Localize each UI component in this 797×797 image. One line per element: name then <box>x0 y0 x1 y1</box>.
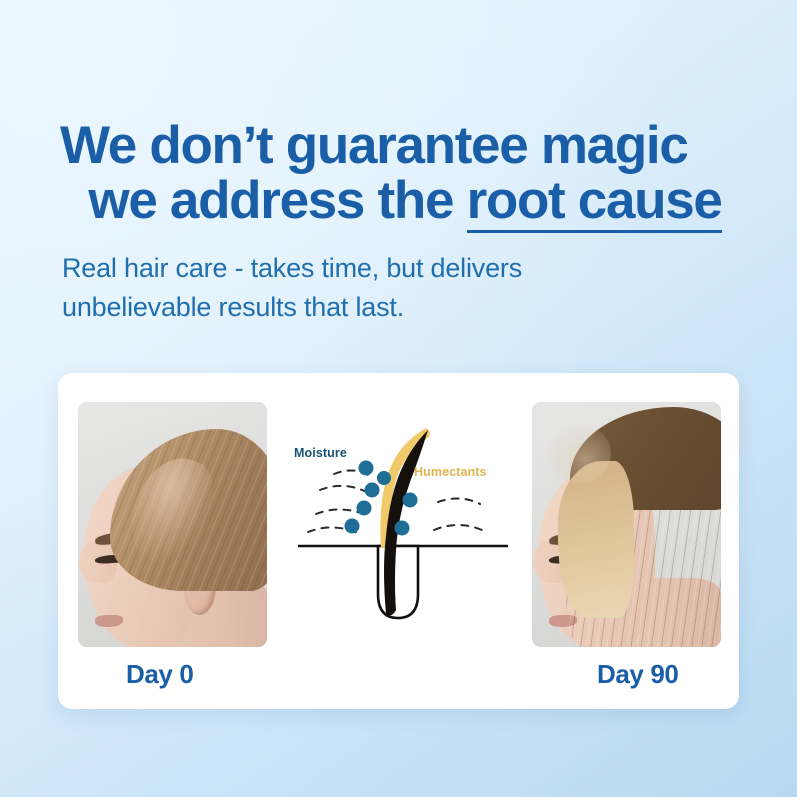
headline-line-2-prefix: we address the <box>88 171 466 230</box>
after-caption: Day 90 <box>597 659 678 690</box>
after-portrait-illustration <box>532 402 721 647</box>
hair-follicle-diagram: Moisture Humectants <box>286 418 520 634</box>
hair-flyaway-wisps <box>547 424 611 483</box>
subtitle-line-1: Real hair care - takes time, but deliver… <box>62 249 702 288</box>
dashed-flow-arcs-right <box>434 498 482 530</box>
comparison-card: Moisture Humectants Day 0 Day 90 <box>58 373 739 709</box>
follicle-bulb <box>378 546 418 618</box>
before-portrait-illustration <box>78 402 267 647</box>
before-caption: Day 0 <box>126 659 193 690</box>
advertisement-canvas: We don’t guarantee magic we address the … <box>0 0 797 797</box>
subtitle-line-2: unbelievable results that last. <box>62 288 702 327</box>
humectants-label: Humectants <box>414 465 487 479</box>
moisture-label: Moisture <box>294 446 347 460</box>
headline-line-1: We don’t guarantee magic <box>60 118 760 174</box>
before-photo <box>78 402 267 647</box>
after-photo <box>532 402 721 647</box>
hair-front-section <box>558 461 634 618</box>
headline: We don’t guarantee magic we address the … <box>60 118 760 234</box>
subtitle: Real hair care - takes time, but deliver… <box>62 249 702 327</box>
headline-emphasis-root-cause: root cause <box>467 174 722 233</box>
headline-line-2: we address the root cause <box>60 173 750 233</box>
